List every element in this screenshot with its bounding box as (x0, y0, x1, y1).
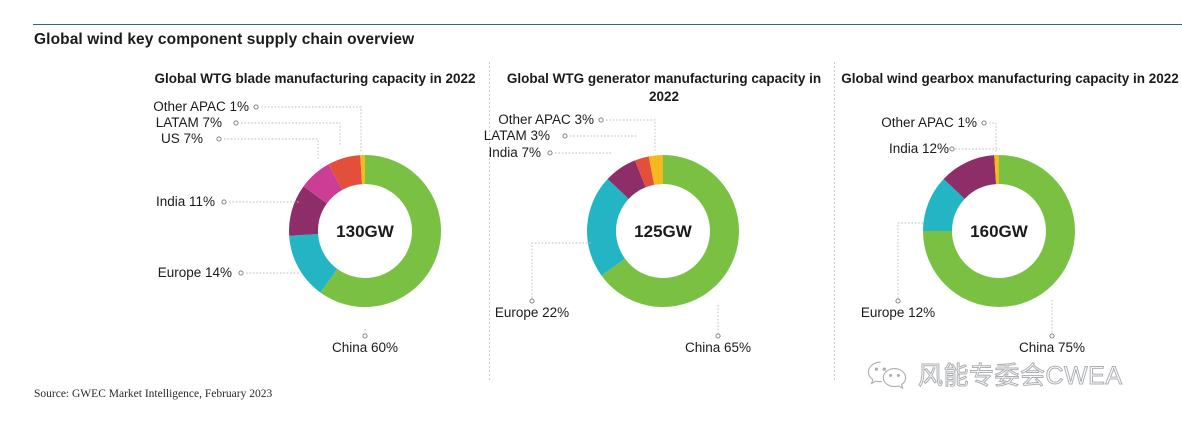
label-leader-line (224, 139, 318, 159)
label-marker-dot (254, 105, 258, 109)
slice-label: LATAM 7% (156, 115, 222, 130)
slice-label: Europe 22% (495, 305, 569, 320)
slice-label: Other APAC 1% (881, 115, 977, 130)
slice-label: China 60% (332, 340, 398, 355)
donut-charts-canvas: China 60%Europe 14%India 11%US 7%LATAM 7… (0, 0, 1182, 431)
label-marker-dot (1050, 334, 1054, 338)
source-note: Source: GWEC Market Intelligence, Februa… (34, 388, 272, 400)
slice-label: India 12% (889, 141, 949, 156)
label-marker-dot (599, 118, 603, 122)
label-leader-line (606, 120, 655, 151)
label-marker-dot (896, 299, 900, 303)
slice-label: Other APAC 3% (498, 112, 594, 127)
donut-center-label: 130GW (336, 222, 395, 241)
slice-label: US 7% (161, 131, 203, 146)
label-marker-dot (217, 137, 221, 141)
label-marker-dot (548, 151, 552, 155)
donut-center-label: 160GW (970, 222, 1029, 241)
donut-chart-2: China 65%Europe 22%India 7%LATAM 3%Other… (484, 112, 751, 355)
label-marker-dot (950, 147, 954, 151)
label-marker-dot (982, 121, 986, 125)
slice-label: India 11% (156, 194, 215, 209)
label-marker-dot (239, 271, 243, 275)
slice-label: China 75% (1019, 340, 1085, 355)
label-marker-dot (563, 134, 567, 138)
label-leader-line (532, 243, 591, 298)
label-marker-dot (222, 200, 226, 204)
slice-label: Europe 14% (158, 265, 232, 280)
donut-chart-1: China 60%Europe 14%India 11%US 7%LATAM 7… (153, 99, 441, 355)
slice-label: LATAM 3% (484, 128, 550, 143)
slice-label: Other APAC 1% (153, 99, 249, 114)
label-marker-dot (234, 121, 238, 125)
label-leader-line (261, 107, 361, 152)
label-leader-line (989, 123, 996, 152)
page-root: Global wind key component supply chain o… (0, 0, 1182, 431)
slice-label: China 65% (685, 340, 751, 355)
slice-label: Europe 12% (861, 305, 935, 320)
label-marker-dot (530, 299, 534, 303)
label-marker-dot (363, 334, 367, 338)
slice-label: India 7% (488, 145, 541, 160)
donut-chart-3: China 75%Europe 12%India 12%Other APAC 1… (861, 115, 1085, 355)
label-leader-line (898, 223, 925, 298)
label-leader-line (241, 123, 340, 145)
label-marker-dot (716, 334, 720, 338)
donut-center-label: 125GW (634, 222, 693, 241)
